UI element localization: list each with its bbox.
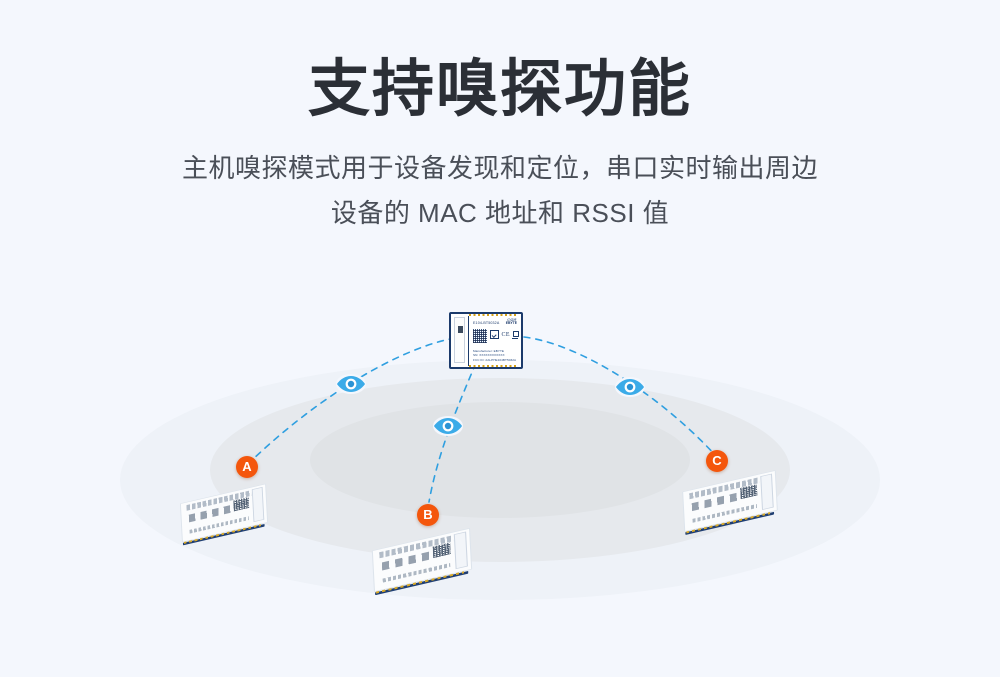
tickbox-icon (490, 330, 499, 339)
promo-page: 支持嗅探功能 主机嗅探模式用于设备发现和定位，串口实时输出周边 设备的 MAC … (0, 0, 1000, 677)
ce-icon: CE (502, 332, 510, 338)
qr-code-icon (433, 543, 451, 558)
rf-shield-can (760, 474, 773, 510)
subtitle-line-1: 主机嗅探模式用于设备发现和定位，串口实时输出周边 (0, 146, 1000, 191)
center-pcb-module: E104-BT5032A 亿佰特 EBYTE CE Manufacturer: … (449, 312, 523, 369)
page-title: 支持嗅探功能 (0, 0, 1000, 124)
rf-shield-can (252, 487, 264, 522)
node-badge-c[interactable]: C (706, 450, 728, 472)
rf-shield-can (454, 317, 465, 363)
eye-icon (432, 415, 464, 437)
page-subtitle: 主机嗅探模式用于设备发现和定位，串口实时输出周边 设备的 MAC 地址和 RSS… (0, 124, 1000, 235)
brand-name-en: EBYTE (506, 322, 517, 326)
module-divider (468, 316, 469, 366)
qr-code-icon (740, 484, 757, 499)
rf-shield-can (454, 532, 468, 570)
module-pins-top (469, 313, 518, 316)
qr-code-icon (473, 329, 487, 343)
module-part-number: E104-BT5032A (473, 321, 499, 325)
brand-logo: 亿佰特 EBYTE (506, 319, 517, 326)
subtitle-line-2: 设备的 MAC 地址和 RSSI 值 (0, 191, 1000, 236)
module-footer-text: Manufacturer: EBYTE SN: XXXXXXXXXXXX FCC… (473, 349, 516, 362)
eye-icon (614, 376, 646, 398)
eye-icon (335, 373, 367, 395)
header: 支持嗅探功能 主机嗅探模式用于设备发现和定位，串口实时输出周边 设备的 MAC … (0, 0, 1000, 236)
fcc-id-line: FCC ID: 2ALPHE104BT5032A (473, 358, 516, 362)
module-body: E104-BT5032A 亿佰特 EBYTE CE Manufacturer: … (449, 312, 523, 369)
link-path-a (250, 338, 455, 462)
weee-icon (512, 330, 518, 339)
qr-code-icon (233, 497, 249, 511)
certification-icons: CE (490, 330, 518, 339)
node-badge-b[interactable]: B (417, 504, 439, 526)
module-pins-bottom (469, 365, 518, 368)
node-badge-a[interactable]: A (236, 456, 258, 478)
